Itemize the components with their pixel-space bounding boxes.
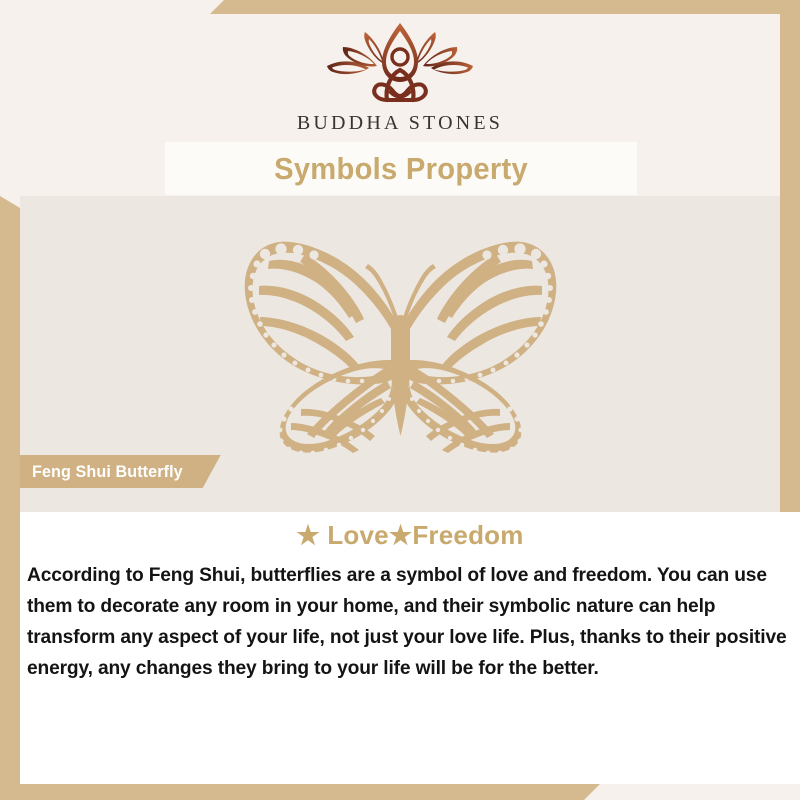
feng-shui-banner: Feng Shui Butterfly xyxy=(20,455,221,488)
brand-name: BUDDHA STONES xyxy=(0,112,800,135)
description-text: According to Feng Shui, butterflies are … xyxy=(20,551,800,684)
title-bar: Symbols Property xyxy=(165,142,637,195)
page-root: BUDDHA STONES Symbols Property xyxy=(0,0,800,800)
subtitle-love-freedom: ★ Love★Freedom xyxy=(20,512,800,551)
hero-image xyxy=(213,231,588,461)
gold-corner-top-right xyxy=(210,0,800,14)
gold-edge-left xyxy=(0,196,20,784)
butterfly-icon xyxy=(213,231,588,461)
banner-label: Feng Shui Butterfly xyxy=(32,462,183,482)
page-title: Symbols Property xyxy=(274,151,528,187)
brand-logo: BUDDHA STONES xyxy=(0,22,800,135)
gold-corner-bottom-left xyxy=(0,784,600,800)
description-card: ★ Love★Freedom According to Feng Shui, b… xyxy=(20,512,800,784)
lotus-meditation-figure-icon xyxy=(324,22,476,108)
